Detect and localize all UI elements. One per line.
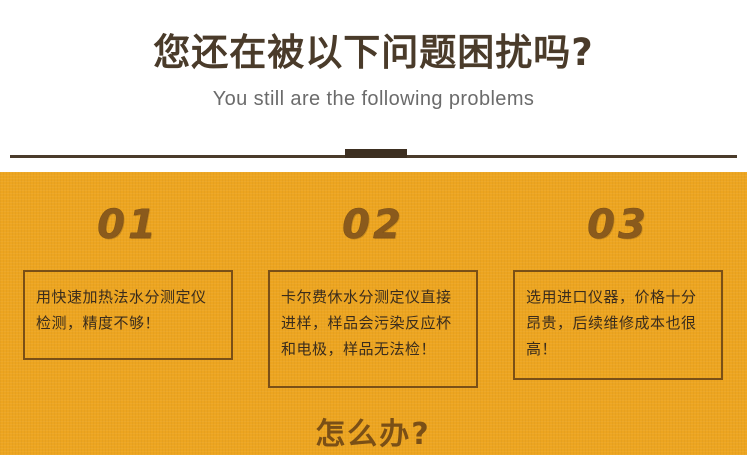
problem-column-1: 01 用快速加热法水分测定仪检测，精度不够！ [23,202,233,360]
problem-number-1: 01 [23,202,233,248]
page-subtitle: You still are the following problems [0,88,747,111]
problem-number-3: 03 [513,202,723,248]
problem-text-1: 用快速加热法水分测定仪检测，精度不够！ [36,284,220,336]
howto-text: 怎么办? [268,409,478,453]
page-title: 您还在被以下问题困扰吗? [0,22,747,76]
problem-number-2: 02 [268,202,478,248]
problem-box-2: 卡尔费休水分测定仪直接进样，样品会污染反应杯和电极，样品无法检！ [268,270,478,388]
problem-column-3: 03 选用进口仪器，价格十分昂贵，后续维修成本也很高！ [513,202,723,380]
problem-text-3: 选用进口仪器，价格十分昂贵，后续维修成本也很高！ [526,284,710,362]
header-section: 您还在被以下问题困扰吗? You still are the following… [0,0,747,172]
promo-banner: 您还在被以下问题困扰吗? You still are the following… [0,0,747,455]
divider-center-block [345,149,407,158]
problem-text-2: 卡尔费休水分测定仪直接进样，样品会污染反应杯和电极，样品无法检！ [281,284,465,362]
problem-box-1: 用快速加热法水分测定仪检测，精度不够！ [23,270,233,360]
problem-column-2: 02 卡尔费休水分测定仪直接进样，样品会污染反应杯和电极，样品无法检！ [268,202,478,388]
problems-section: 01 用快速加热法水分测定仪检测，精度不够！ 02 卡尔费休水分测定仪直接进样，… [0,172,747,455]
problem-box-3: 选用进口仪器，价格十分昂贵，后续维修成本也很高！ [513,270,723,380]
